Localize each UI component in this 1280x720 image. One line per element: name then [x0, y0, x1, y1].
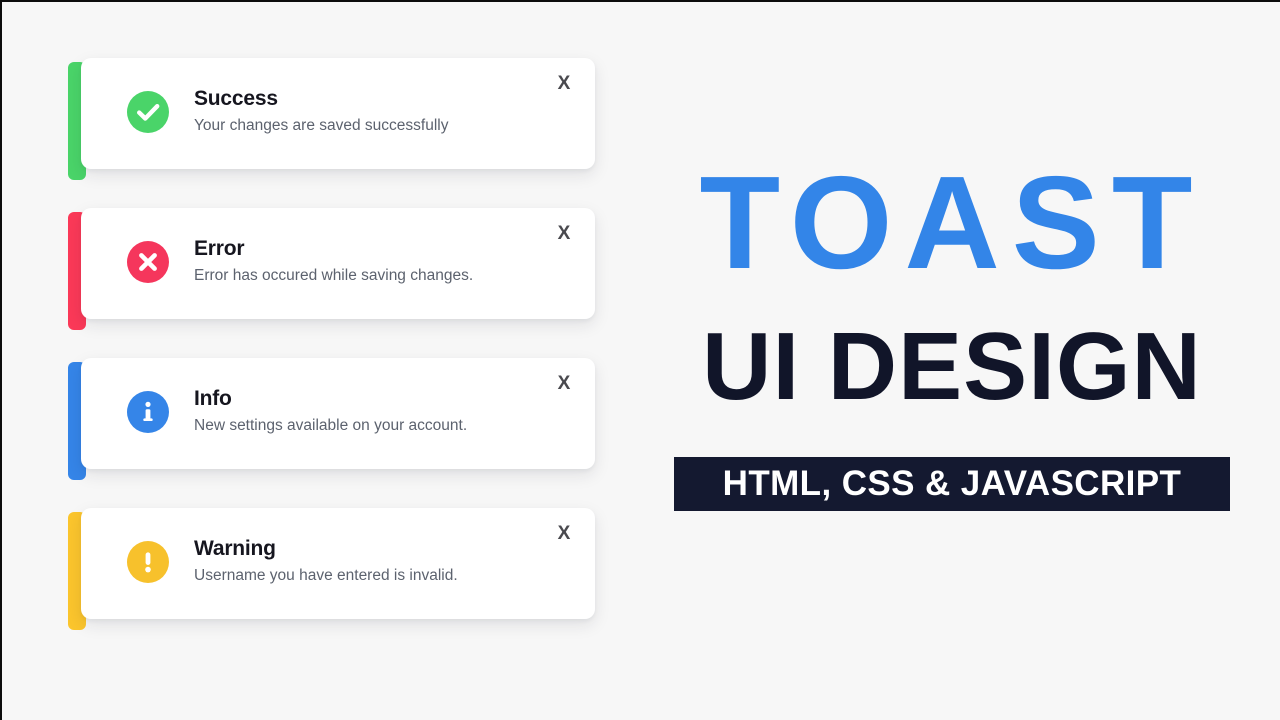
- toast-stack: X Success Your changes are saved success…: [68, 58, 608, 658]
- toast-title-warning: Warning: [194, 537, 458, 561]
- page-root: X Success Your changes are saved success…: [0, 0, 1280, 720]
- toast-title-error: Error: [194, 237, 473, 261]
- hero-title: TOAST: [674, 157, 1230, 289]
- toast-error[interactable]: X Error Error has occured while saving c…: [68, 208, 595, 326]
- toast-text-success: Success Your changes are saved successfu…: [194, 87, 448, 137]
- toast-close-button-warning[interactable]: X: [551, 520, 577, 546]
- hero-badge: HTML, CSS & JAVASCRIPT: [674, 457, 1230, 511]
- toast-title-success: Success: [194, 87, 448, 111]
- toast-card-error: X Error Error has occured while saving c…: [81, 208, 595, 319]
- toast-close-button-info[interactable]: X: [551, 370, 577, 396]
- hero-block: TOAST UI DESIGN HTML, CSS & JAVASCRIPT: [674, 157, 1230, 511]
- toast-card-warning: X Warning Username you have entered is i…: [81, 508, 595, 619]
- toast-body-warning: Warning Username you have entered is inv…: [127, 537, 458, 587]
- toast-body-success: Success Your changes are saved successfu…: [127, 87, 448, 137]
- check-circle-icon: [127, 91, 169, 133]
- toast-body-error: Error Error has occured while saving cha…: [127, 237, 473, 287]
- toast-title-info: Info: [194, 387, 467, 411]
- toast-card-success: X Success Your changes are saved success…: [81, 58, 595, 169]
- toast-text-warning: Warning Username you have entered is inv…: [194, 537, 458, 587]
- exclamation-circle-icon: [127, 541, 169, 583]
- times-circle-icon: [127, 241, 169, 283]
- toast-card-info: X Info New settings available on your ac…: [81, 358, 595, 469]
- toast-success[interactable]: X Success Your changes are saved success…: [68, 58, 595, 176]
- toast-info[interactable]: X Info New settings available on your ac…: [68, 358, 595, 476]
- toast-text-info: Info New settings available on your acco…: [194, 387, 467, 437]
- hero-subtitle: UI DESIGN: [674, 319, 1230, 415]
- hero-badge-text: HTML, CSS & JAVASCRIPT: [723, 464, 1182, 504]
- toast-message-error: Error has occured while saving changes.: [194, 266, 473, 287]
- toast-text-error: Error Error has occured while saving cha…: [194, 237, 473, 287]
- toast-message-warning: Username you have entered is invalid.: [194, 566, 458, 587]
- toast-warning[interactable]: X Warning Username you have entered is i…: [68, 508, 595, 626]
- info-circle-icon: [127, 391, 169, 433]
- toast-body-info: Info New settings available on your acco…: [127, 387, 467, 437]
- toast-message-success: Your changes are saved successfully: [194, 116, 448, 137]
- toast-close-button-success[interactable]: X: [551, 70, 577, 96]
- toast-close-button-error[interactable]: X: [551, 220, 577, 246]
- toast-message-info: New settings available on your account.: [194, 416, 467, 437]
